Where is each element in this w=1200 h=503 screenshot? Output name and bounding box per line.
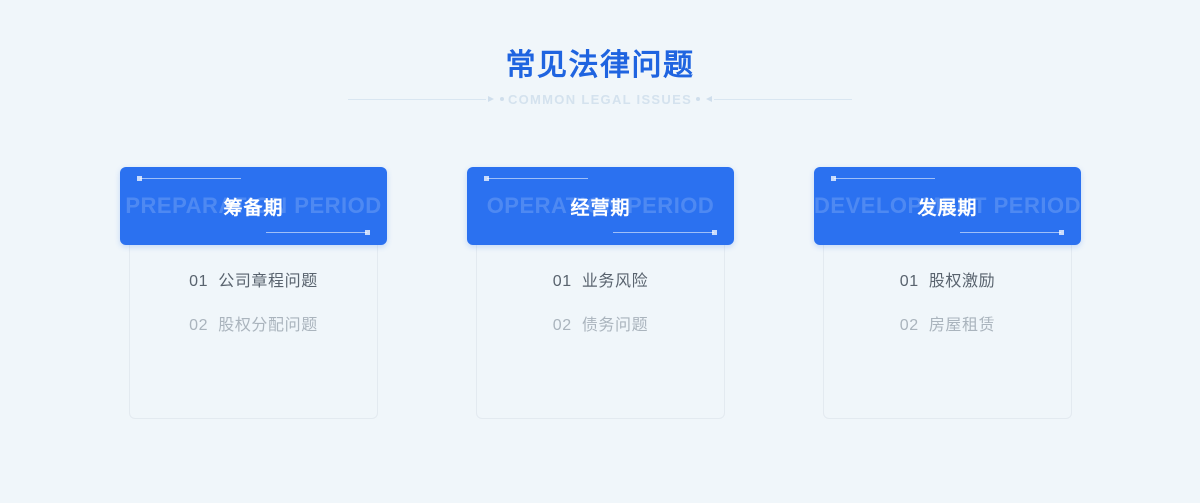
rule-dot: [500, 97, 504, 101]
header-marker-bottom-icon: [1059, 230, 1064, 235]
list-item-index: 02: [189, 317, 208, 334]
card-body: 01 业务风险 02 债务问题: [476, 245, 725, 419]
section-heading: 常见法律问题 COMMON LEGAL ISSUES: [0, 46, 1200, 110]
list-item-label: 房屋租赁: [929, 317, 995, 334]
card-row: PREPARATION PERIOD 筹备期 01 公司章程问题 02 股权分配…: [120, 167, 1081, 419]
list-item-index: 02: [900, 317, 919, 334]
issue-list: 01 公司章程问题 02 股权分配问题: [130, 271, 377, 337]
header-marker-bottom-icon: [712, 230, 717, 235]
page-title: 常见法律问题: [0, 46, 1200, 86]
decorative-rule-left: [348, 95, 508, 105]
list-item-index: 02: [553, 317, 572, 334]
list-item[interactable]: 01 业务风险: [477, 271, 724, 293]
page-subtitle: COMMON LEGAL ISSUES: [508, 90, 692, 110]
arrow-left-icon: [706, 96, 712, 102]
issue-list: 01 股权激励 02 房屋租赁: [824, 271, 1071, 337]
issue-list: 01 业务风险 02 债务问题: [477, 271, 724, 337]
card-header: PREPARATION PERIOD 筹备期: [120, 167, 387, 245]
card-header: DEVELOPMENT PERIOD 发展期: [814, 167, 1081, 245]
arrow-right-icon: [488, 96, 494, 102]
list-item-label: 股权分配问题: [218, 317, 318, 334]
card-body: 01 股权激励 02 房屋租赁: [823, 245, 1072, 419]
list-item[interactable]: 02 股权分配问题: [130, 315, 377, 337]
list-item-label: 债务问题: [582, 317, 648, 334]
list-item-index: 01: [900, 273, 919, 290]
header-line-top: [487, 178, 588, 179]
header-line-bottom: [960, 232, 1061, 233]
list-item-label: 公司章程问题: [218, 273, 318, 290]
rule-line: [348, 99, 486, 100]
decorative-rule-right: [692, 95, 852, 105]
header-line-bottom: [266, 232, 367, 233]
list-item[interactable]: 02 债务问题: [477, 315, 724, 337]
header-line-top: [140, 178, 241, 179]
stage-card-development[interactable]: DEVELOPMENT PERIOD 发展期 01 股权激励 02 房屋租赁: [814, 167, 1081, 419]
page-root: 常见法律问题 COMMON LEGAL ISSUES PREPARATION P…: [0, 0, 1200, 503]
subtitle-row: COMMON LEGAL ISSUES: [0, 90, 1200, 110]
stage-card-operation[interactable]: OPERATION PERIOD 经营期 01 业务风险 02 债务问题: [467, 167, 734, 419]
rule-dot: [696, 97, 700, 101]
stage-card-preparation[interactable]: PREPARATION PERIOD 筹备期 01 公司章程问题 02 股权分配…: [120, 167, 387, 419]
header-line-bottom: [613, 232, 714, 233]
list-item[interactable]: 01 公司章程问题: [130, 271, 377, 293]
header-marker-bottom-icon: [365, 230, 370, 235]
list-item-index: 01: [189, 273, 208, 290]
list-item-label: 股权激励: [929, 273, 995, 290]
header-line-top: [834, 178, 935, 179]
list-item-label: 业务风险: [582, 273, 648, 290]
rule-line: [714, 99, 852, 100]
card-header: OPERATION PERIOD 经营期: [467, 167, 734, 245]
list-item-index: 01: [553, 273, 572, 290]
card-body: 01 公司章程问题 02 股权分配问题: [129, 245, 378, 419]
list-item[interactable]: 01 股权激励: [824, 271, 1071, 293]
list-item[interactable]: 02 房屋租赁: [824, 315, 1071, 337]
